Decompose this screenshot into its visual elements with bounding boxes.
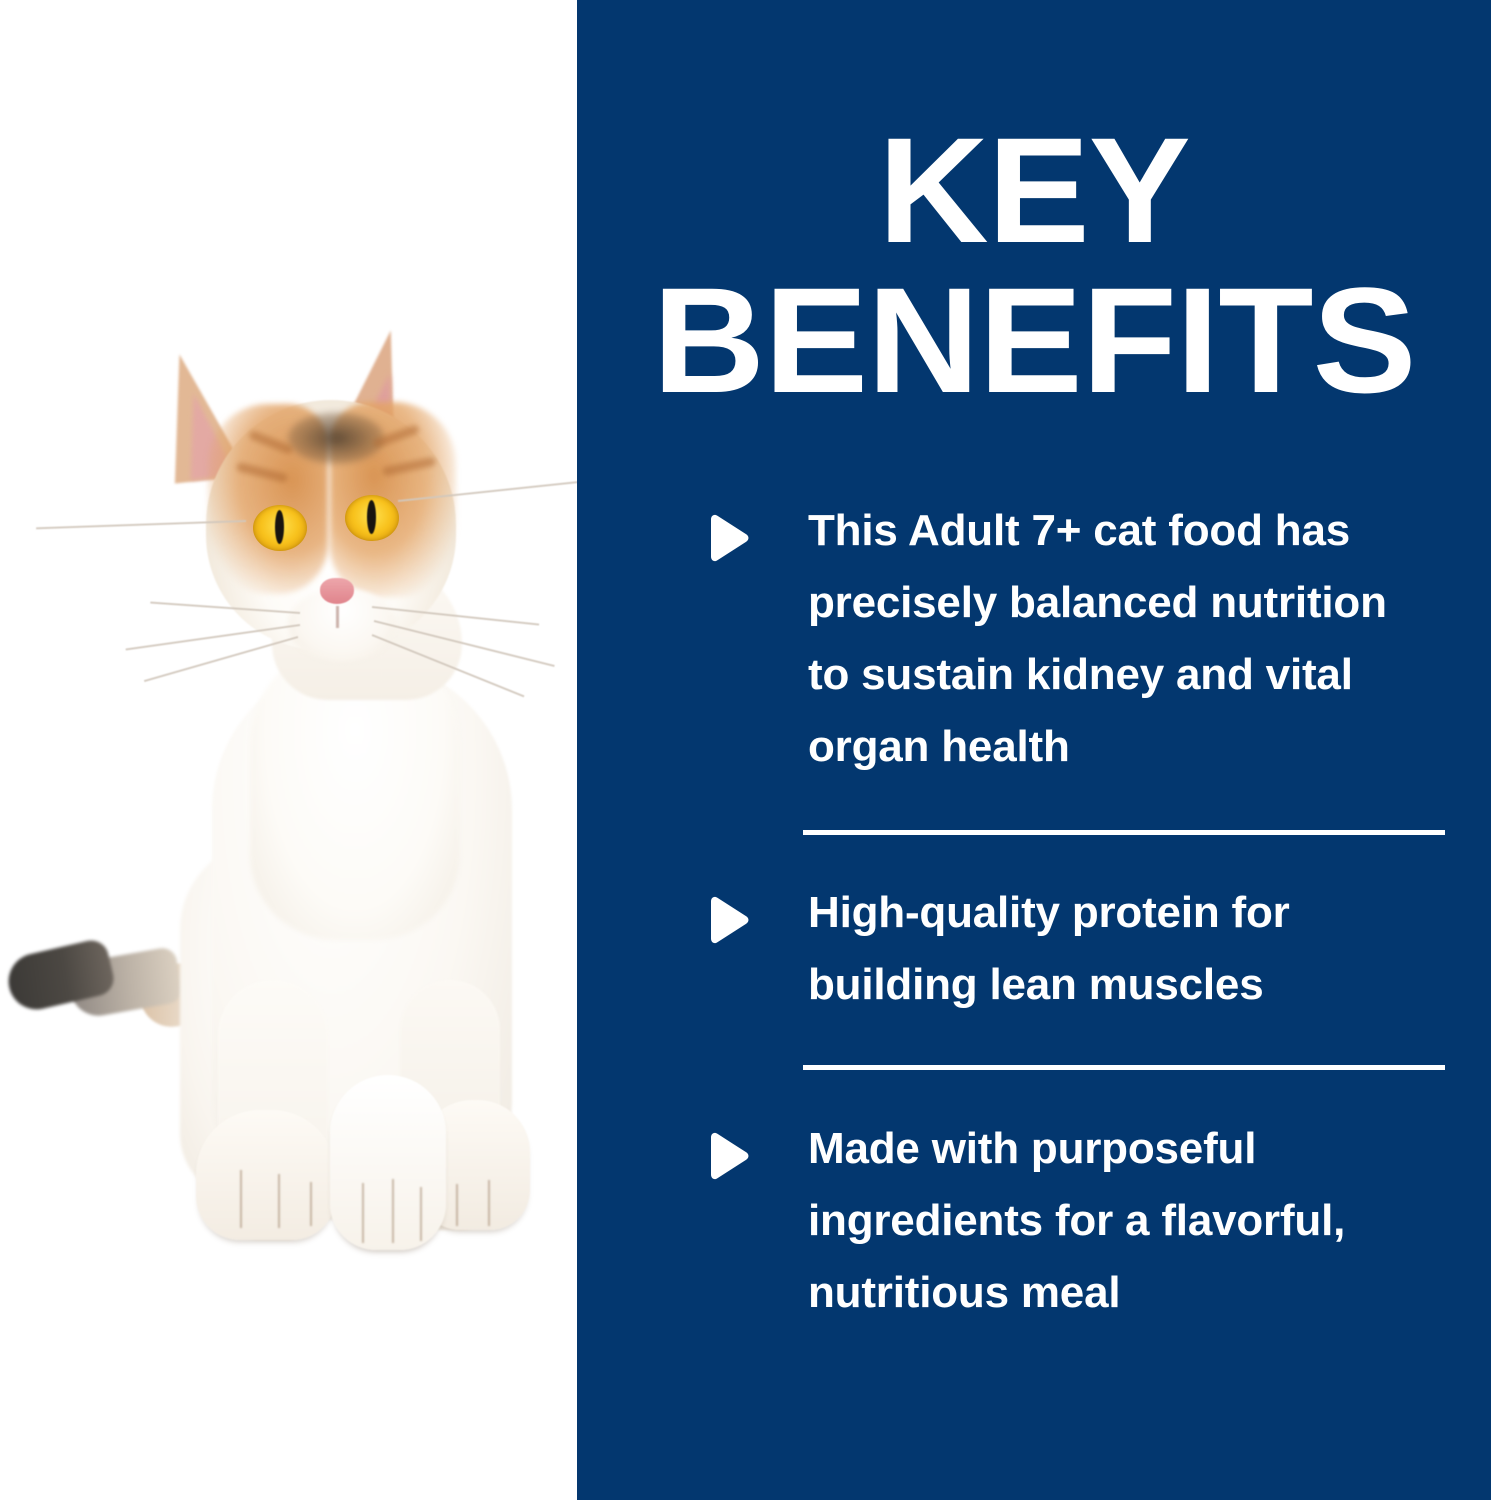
page-title: KEY BENEFITS: [577, 118, 1491, 412]
key-benefits-poster: KEY BENEFITS This Adult 7+ cat food has …: [0, 0, 1491, 1500]
cat-pupil-left: [275, 510, 284, 544]
title-line-key: KEY: [568, 118, 1491, 262]
title-line-benefits: BENEFITS: [559, 268, 1491, 412]
play-triangle-icon: [705, 895, 751, 945]
benefits-panel: KEY BENEFITS This Adult 7+ cat food has …: [577, 0, 1491, 1500]
play-triangle-icon: [705, 513, 751, 563]
cat-photo-panel: [0, 0, 577, 1500]
benefit-item-1: This Adult 7+ cat food has precisely bal…: [577, 495, 1491, 783]
cat-illustration: [0, 0, 577, 1500]
benefit-text-1: This Adult 7+ cat food has precisely bal…: [808, 495, 1418, 783]
cat-forehead-marking: [288, 412, 384, 464]
cat-pupil-right: [367, 500, 376, 534]
benefit-text-3: Made with purposeful ingredients for a f…: [808, 1113, 1418, 1329]
cat-mouth: [336, 606, 339, 628]
cat-paw-left: [196, 1110, 336, 1240]
benefit-text-2: High-quality protein for building lean m…: [808, 877, 1418, 1021]
benefits-list: This Adult 7+ cat food has precisely bal…: [577, 495, 1491, 1329]
benefit-item-2: High-quality protein for building lean m…: [577, 877, 1491, 1021]
cat-nose: [320, 578, 354, 604]
benefit-item-3: Made with purposeful ingredients for a f…: [577, 1113, 1491, 1329]
play-triangle-icon: [705, 1131, 751, 1181]
cat-paw-center: [330, 1075, 446, 1250]
